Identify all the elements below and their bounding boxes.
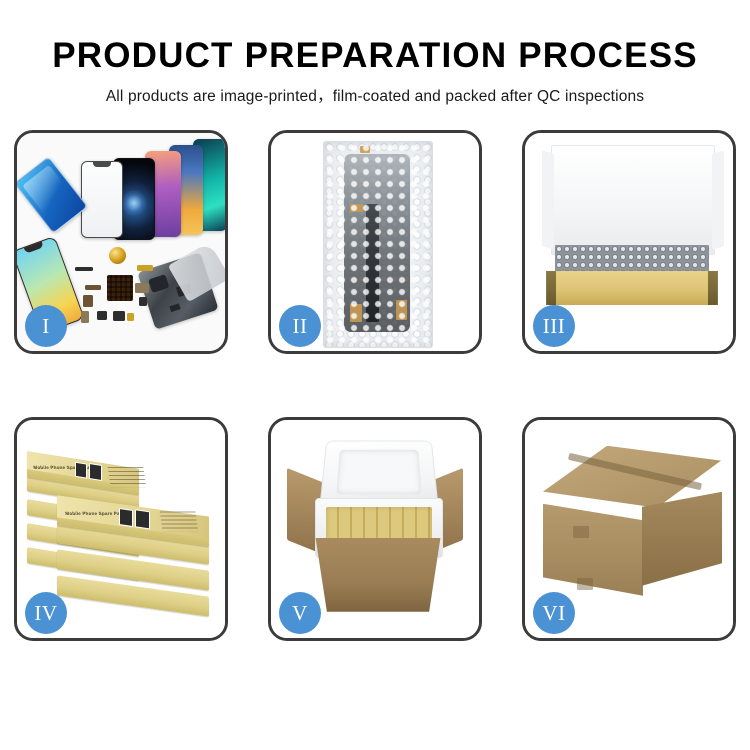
logic-board-chip [107, 275, 133, 301]
white-foam-lid [551, 145, 715, 255]
grey-bubble-padding [555, 245, 709, 273]
step-badge-1: I [25, 305, 67, 347]
part-chip-2 [139, 297, 147, 306]
process-step-panel-5: V [268, 417, 482, 641]
step-badge-3: III [533, 305, 575, 347]
part-ribbon-1 [85, 285, 101, 290]
step-badge-2: II [279, 305, 321, 347]
carton-body [307, 538, 449, 612]
part-camera [97, 311, 107, 320]
carton-tab-upper [573, 526, 589, 538]
box-lid-phone-img-1 [75, 461, 87, 478]
blue-protective-film [17, 156, 88, 234]
box-lid-phone-img-3 [119, 508, 133, 527]
step-badge-6: VI [533, 592, 575, 634]
part-flex-2 [135, 283, 149, 293]
page-subtitle: All products are image-printed，film-coat… [0, 84, 750, 106]
carton-tab-lower [577, 578, 593, 590]
step-badge-4: IV [25, 592, 67, 634]
box-lid-spec-lines-front [160, 511, 198, 531]
process-step-panel-1: I [14, 130, 228, 354]
box-label-text-front: Mobile Phone Spare Parts [65, 510, 127, 515]
spare-parts-cluster [75, 255, 167, 331]
part-battery-tab [81, 311, 89, 323]
process-step-grid: I II [0, 118, 750, 678]
process-step-panel-6: VI [522, 417, 736, 641]
process-step-panel-3: III [522, 130, 736, 354]
part-flex-gold [137, 265, 153, 271]
kraft-box-base [547, 271, 717, 305]
process-step-panel-2: II [268, 130, 482, 354]
box-lid-phone-img-4 [135, 509, 150, 529]
carton-side-face [642, 492, 722, 586]
part-bracket-1 [83, 295, 93, 307]
part-vibrator [127, 313, 134, 321]
carton-front-face [543, 504, 643, 596]
part-speaker [113, 311, 125, 321]
page-title: PRODUCT PREPARATION PROCESS [0, 38, 750, 75]
part-connector-1 [75, 267, 93, 271]
step-badge-5: V [279, 592, 321, 634]
screen-glass-panel [81, 161, 123, 238]
bubble-wrap-bag [323, 141, 433, 348]
process-step-panel-4: Mobile Phone Spare Parts Mobile Phone Sp… [14, 417, 228, 641]
box-lid-spec-lines-back [108, 467, 147, 487]
bubble-texture-overlay [324, 142, 432, 347]
speaker-module [109, 247, 126, 264]
box-lid-phone-img-2 [89, 463, 102, 481]
page-header: PRODUCT PREPARATION PROCESS All products… [0, 0, 750, 106]
